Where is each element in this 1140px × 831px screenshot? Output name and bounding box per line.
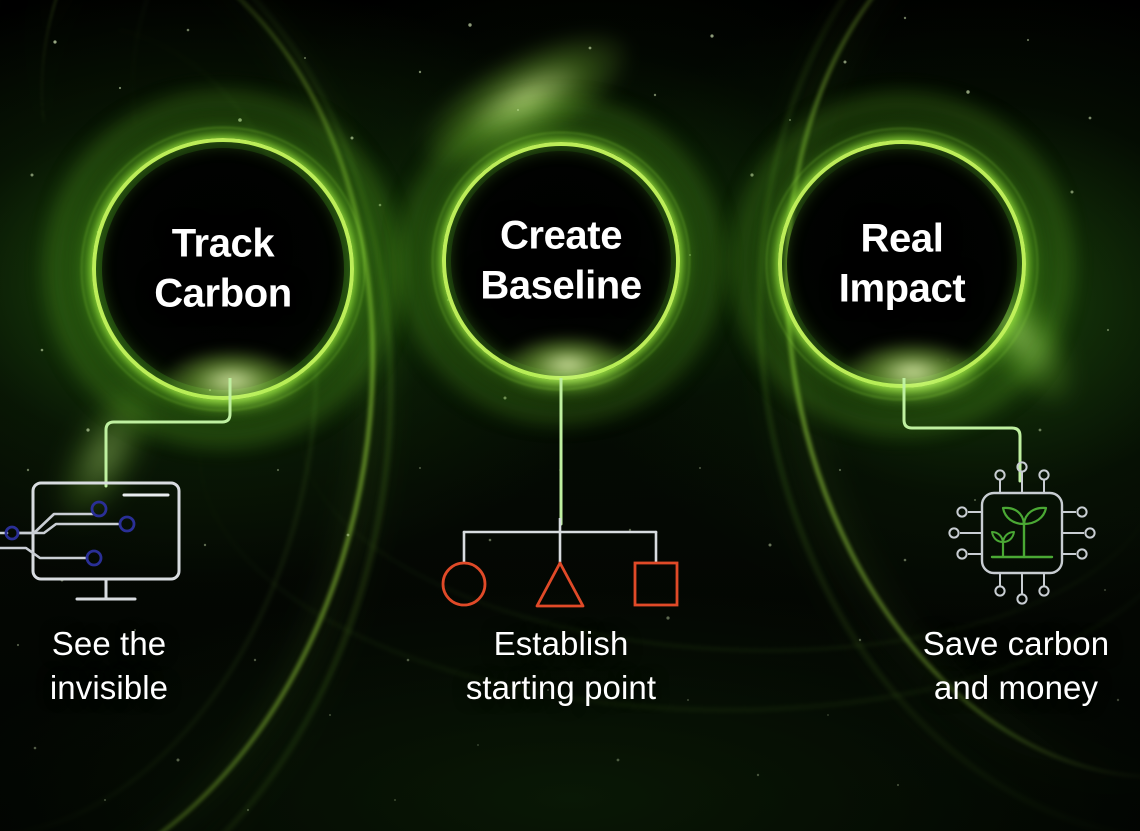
chip-sprout-icon[interactable] xyxy=(940,450,1105,615)
caption-line-2: starting point xyxy=(420,666,702,710)
ring-label-track-carbon: Track Carbon xyxy=(92,219,354,320)
hierarchy-shapes-icon[interactable] xyxy=(440,518,680,608)
caption-see-the-invisible: See the invisible xyxy=(0,622,218,709)
ring-label-create-baseline: Create Baseline xyxy=(442,211,680,312)
caption-line-1: See the xyxy=(0,622,218,666)
caption-save-carbon-and-money: Save carbon and money xyxy=(890,622,1140,709)
caption-line-2: invisible xyxy=(0,666,218,710)
infographic-canvas: Track Carbon Create Baseline Real Impact xyxy=(0,0,1140,831)
ring-title-line-1: Real xyxy=(778,214,1026,264)
ring-title-line-2: Baseline xyxy=(442,261,680,311)
caption-line-1: Save carbon xyxy=(890,622,1140,666)
node-ring-real-impact[interactable]: Real Impact xyxy=(778,140,1026,388)
ring-label-real-impact: Real Impact xyxy=(778,214,1026,315)
caption-establish-starting-point: Establish starting point xyxy=(420,622,702,709)
shape-square xyxy=(635,563,677,605)
ring-title-line-2: Impact xyxy=(778,264,1026,314)
caption-line-2: and money xyxy=(890,666,1140,710)
node-ring-create-baseline[interactable]: Create Baseline xyxy=(442,142,680,380)
shape-circle xyxy=(443,563,485,605)
shape-triangle xyxy=(537,563,583,606)
caption-line-1: Establish xyxy=(420,622,702,666)
ring-flare xyxy=(164,350,300,412)
monitor-circuit-icon[interactable] xyxy=(0,478,204,608)
node-ring-track-carbon[interactable]: Track Carbon xyxy=(92,138,354,400)
ring-flare xyxy=(846,342,980,402)
ring-title-line-1: Track xyxy=(92,219,354,269)
ring-title-line-2: Carbon xyxy=(92,269,354,319)
ring-title-line-1: Create xyxy=(442,211,680,261)
ring-flare xyxy=(504,336,632,394)
